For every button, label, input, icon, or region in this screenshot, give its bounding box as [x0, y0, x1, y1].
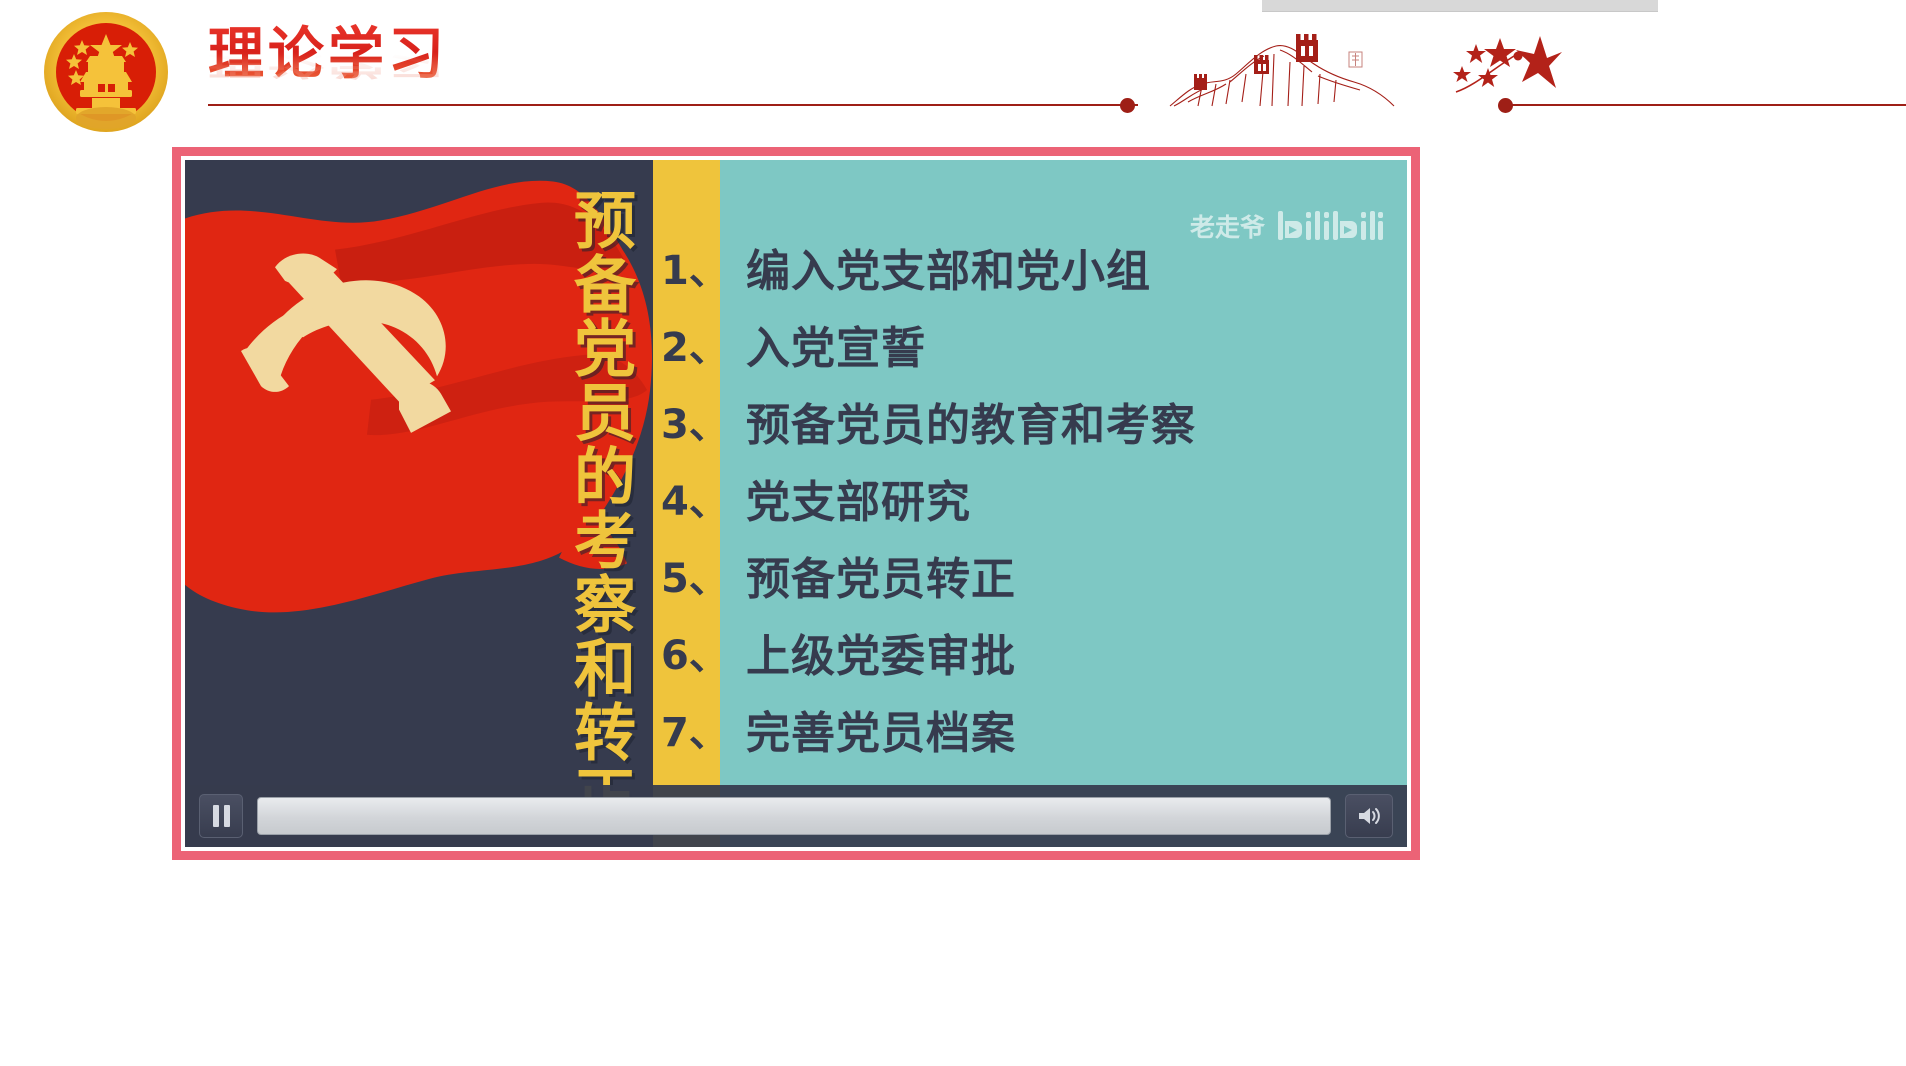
list-item-number: 3、: [653, 392, 720, 450]
pause-icon: [213, 805, 219, 827]
page-title-block: 理论学习 理论学习: [208, 24, 808, 134]
page-header: 理论学习 理论学习: [0, 0, 1906, 145]
list-item: 1、 编入党支部和党小组: [653, 228, 1407, 305]
list-item-label: 编入党支部和党小组: [720, 235, 1151, 299]
list-item-number: 4、: [653, 469, 720, 527]
great-wall-illustration: [1168, 22, 1408, 112]
list-item-number: 7、: [653, 700, 720, 758]
list-item-label: 上级党委审批: [720, 620, 1016, 684]
page-title-reflection: 理论学习: [208, 46, 808, 80]
seek-bar[interactable]: [257, 797, 1331, 835]
video-player-inner-frame: 预备党员的考察和转正 1、 编入党支部和党小组 2、 入党宣誓: [181, 156, 1411, 851]
list-item-number: 5、: [653, 546, 720, 604]
list-item-number: 2、: [653, 315, 720, 373]
stars-decoration-icon: [1452, 30, 1562, 105]
volume-button[interactable]: [1345, 794, 1393, 838]
pause-icon: [224, 805, 230, 827]
header-rule-dot-left: [1120, 98, 1135, 113]
list-item-label: 完善党员档案: [720, 697, 1016, 761]
list-item: 2、 入党宣誓: [653, 305, 1407, 382]
list-item: 4、 党支部研究: [653, 459, 1407, 536]
list-item-label: 入党宣誓: [720, 312, 926, 376]
header-rule-right: [1510, 104, 1906, 106]
flag-panel: 预备党员的考察和转正: [185, 160, 653, 847]
volume-icon: [1356, 805, 1382, 827]
list-item-label: 党支部研究: [720, 466, 971, 530]
video-vertical-title: 预备党员的考察和转正: [549, 188, 641, 828]
procedure-list: 1、 编入党支部和党小组 2、 入党宣誓 3、 预备党员的教育和考察 4、 党支…: [653, 216, 1407, 783]
list-item: 3、 预备党员的教育和考察: [653, 382, 1407, 459]
china-national-emblem-icon: [36, 8, 176, 138]
list-item: 7、 完善党员档案: [653, 690, 1407, 767]
pause-button[interactable]: [199, 794, 243, 838]
list-item-number: 1、: [653, 238, 720, 296]
list-item: 5、 预备党员转正: [653, 536, 1407, 613]
page-root: 理论学习 理论学习: [0, 0, 1906, 1066]
video-stage[interactable]: 预备党员的考察和转正 1、 编入党支部和党小组 2、 入党宣誓: [185, 160, 1407, 847]
video-player[interactable]: 预备党员的考察和转正 1、 编入党支部和党小组 2、 入党宣誓: [172, 147, 1420, 860]
video-control-bar[interactable]: [185, 785, 1407, 847]
list-item-label: 预备党员转正: [720, 543, 1016, 607]
list-item-number: 6、: [653, 623, 720, 681]
header-rule-left: [208, 104, 1138, 106]
list-item: 6、 上级党委审批: [653, 613, 1407, 690]
list-item-label: 预备党员的教育和考察: [720, 389, 1196, 453]
